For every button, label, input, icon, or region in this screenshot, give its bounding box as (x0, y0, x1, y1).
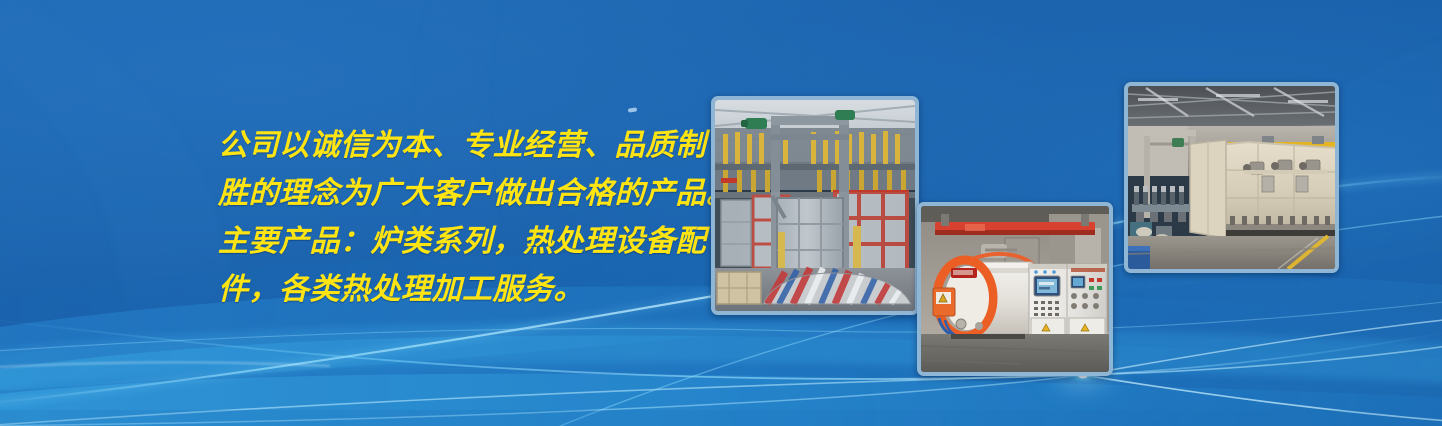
headline-line-2: 胜的理念为广大客户做出合格的产品。 (218, 170, 718, 218)
photo-continuous-line-image (1128, 86, 1335, 269)
company-banner: 公司以诚信为本、专业经营、品质制 胜的理念为广大客户做出合格的产品。 主要产品：… (0, 0, 1442, 426)
photo-furnace-bogie-image (715, 100, 915, 311)
photo-vacuum-furnace[interactable] (917, 202, 1113, 376)
photo-vacuum-furnace-image (921, 206, 1109, 372)
background-bottom-edge (0, 410, 1442, 426)
headline-line-4: 件，各类热处理加工服务。 (218, 266, 718, 314)
headline-line-3: 主要产品：炉类系列，热处理设备配 (218, 218, 718, 266)
headline-text-block: 公司以诚信为本、专业经营、品质制 胜的理念为广大客户做出合格的产品。 主要产品：… (218, 122, 718, 314)
photo-furnace-bogie[interactable] (711, 96, 919, 315)
photo-continuous-line[interactable] (1124, 82, 1339, 273)
headline-line-1: 公司以诚信为本、专业经营、品质制 (218, 122, 718, 170)
